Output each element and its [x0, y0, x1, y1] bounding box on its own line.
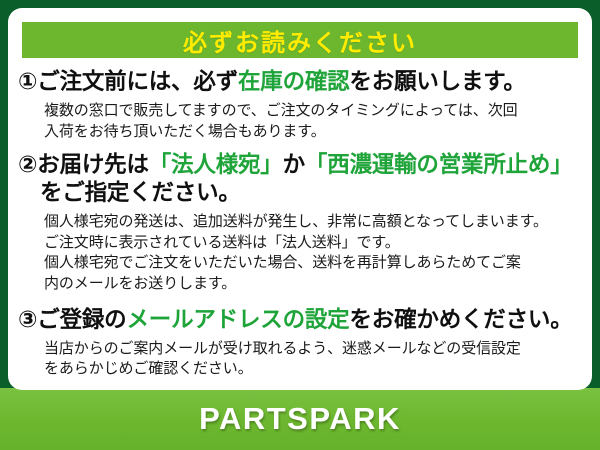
notice-item-2-heading: ②お届け先は「法人様宛」か「西濃運輸の営業所止め」 をご指定ください。 [18, 151, 582, 208]
item-3-head-part-2: をお確かめください。 [350, 307, 573, 333]
notice-item-2-body: 個人様宅宛の発送は、追加送料が発生し、非常に高額となってしまいます。 ご注文時に… [18, 211, 582, 294]
item-1-head-part-1: ご注文前には、必ず [37, 69, 238, 95]
item-2-highlight-2: 「西濃運輸の営業所止め」 [305, 152, 573, 178]
item-marker-3: ③ [18, 307, 37, 333]
item-2-head-part-1: お届け先は [37, 152, 149, 178]
item-2-head-line-2: をご指定ください。 [18, 180, 582, 208]
footer-brand-band: PARTSPARK [0, 388, 600, 450]
item-1-body-line-2: 入荷をお待ち頂いただく場合もあります。 [44, 121, 582, 142]
notice-item-3-heading: ③ご登録のメールアドレスの設定をお確かめください。 [18, 306, 582, 335]
item-2-body-line-4: 内のメールをお送りします。 [44, 273, 582, 294]
brand-logo-text: PARTSPARK [199, 401, 401, 437]
notice-item-1-heading: ①ご注文前には、必ず在庫の確認をお願いします。 [18, 68, 582, 97]
item-2-body-line-1: 個人様宅宛の発送は、追加送料が発生し、非常に高額となってしまいます。 [44, 211, 582, 232]
notice-header-banner: 必ずお読みください [22, 22, 578, 58]
item-3-highlight: メールアドレスの設定 [126, 307, 349, 333]
notice-item-3: ③ご登録のメールアドレスの設定をお確かめください。 当店からのご案内メールが受け… [18, 306, 582, 379]
notice-card: 必ずお読みください ①ご注文前には、必ず在庫の確認をお願いします。 複数の窓口で… [8, 8, 592, 390]
notice-item-3-body: 当店からのご案内メールが受け取れるよう、迷惑メールなどの受信設定 をあらかじめご… [18, 338, 582, 379]
item-1-body-line-1: 複数の窓口で販売してますので、ご注文のタイミングによっては、次回 [44, 100, 582, 121]
page-title: 必ずお読みください [183, 23, 417, 58]
item-1-highlight: 在庫の確認 [238, 69, 350, 95]
item-marker-2: ② [18, 152, 37, 178]
item-3-head-part-1: ご登録の [37, 307, 126, 333]
item-2-body-line-2: ご注文時に表示されている送料は「法人送料」です。 [44, 232, 582, 253]
item-2-head-part-2: か [283, 152, 305, 178]
notice-item-1-body: 複数の窓口で販売してますので、ご注文のタイミングによっては、次回 入荷をお待ち頂… [18, 100, 582, 141]
item-2-highlight-1: 「法人様宛」 [149, 152, 283, 178]
item-1-head-part-2: をお願いします。 [350, 69, 526, 95]
item-marker-1: ① [18, 69, 37, 95]
notice-item-2: ②お届け先は「法人様宛」か「西濃運輸の営業所止め」 をご指定ください。 個人様宅… [18, 151, 582, 294]
item-3-body-line-2: をあらかじめご確認ください。 [44, 358, 582, 379]
notice-item-list: ①ご注文前には、必ず在庫の確認をお願いします。 複数の窓口で販売してますので、ご… [8, 58, 592, 379]
item-2-body-line-3: 個人様宅宛でご注文をいただいた場合、送料を再計算しあらためてご案 [44, 252, 582, 273]
item-3-body-line-1: 当店からのご案内メールが受け取れるよう、迷惑メールなどの受信設定 [44, 338, 582, 359]
notice-banner: PARTSPARK 必ずお読みください ①ご注文前には、必ず在庫の確認をお願いし… [0, 0, 600, 450]
notice-item-1: ①ご注文前には、必ず在庫の確認をお願いします。 複数の窓口で販売してますので、ご… [18, 68, 582, 141]
